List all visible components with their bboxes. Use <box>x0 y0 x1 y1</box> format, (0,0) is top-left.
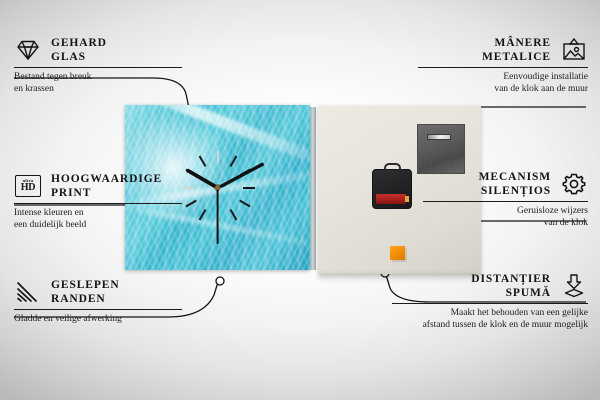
hanger-slot <box>427 134 451 140</box>
quartz-movement <box>372 169 412 209</box>
spacer-arrow-icon <box>560 272 588 300</box>
feature-header: ultra HD HOOGWAARDIGE PRINT <box>14 172 182 200</box>
feature-header: GEHARD GLAS <box>14 36 182 64</box>
foam-spacer <box>390 246 405 260</box>
feature-header: MECANISM SILENȚIOS <box>423 170 588 198</box>
feature-description: Gladde en veilige afwerking <box>14 314 182 326</box>
feature-divider <box>14 309 182 310</box>
feature-title: GEHARD GLAS <box>51 36 107 64</box>
feature-title: MÂNERE METALICE <box>482 36 551 64</box>
feature-title: DISTANȚIER SPUMĂ <box>471 272 551 300</box>
movement-hook <box>384 163 401 172</box>
feature-manere-metalice: MÂNERE METALICE Eenvoudige installatie v… <box>418 36 588 95</box>
feature-description: Geruisloze wijzers van de klok <box>423 206 588 229</box>
beveled-edge-icon <box>14 278 42 306</box>
feature-description: Bestand tegen breuk en krassen <box>14 72 182 95</box>
metal-hanger-plate <box>417 124 465 174</box>
ultra-hd-icon: ultra HD <box>14 172 42 200</box>
glass-beveled-edge <box>310 107 316 270</box>
gear-icon <box>560 170 588 198</box>
picture-frame-icon <box>560 36 588 64</box>
feature-header: DISTANȚIER SPUMĂ <box>392 272 588 300</box>
feature-distantier-spuma: DISTANȚIER SPUMĂ Maakt het behouden van … <box>392 272 588 331</box>
diamond-icon <box>14 36 42 64</box>
feature-description: Eenvoudige installatie van de klok aan d… <box>418 72 588 95</box>
feature-hoogwaardige-print: ultra HD HOOGWAARDIGE PRINT Intense kleu… <box>14 172 182 231</box>
feature-divider <box>423 201 588 202</box>
feature-gehard-glas: GEHARD GLAS Bestand tegen breuk en krass… <box>14 36 182 95</box>
clock-hand-hub <box>215 185 220 190</box>
clock-second-hand <box>217 188 219 244</box>
infographic-canvas: GEHARD GLAS Bestand tegen breuk en krass… <box>0 0 600 400</box>
feature-title: HOOGWAARDIGE PRINT <box>51 172 162 200</box>
feature-divider <box>392 303 588 304</box>
feature-title: GESLEPEN RANDEN <box>51 278 120 306</box>
feature-geslepen-randen: GESLEPEN RANDEN Gladde en veilige afwerk… <box>14 278 182 326</box>
feature-divider <box>14 203 182 204</box>
feature-divider <box>418 67 588 68</box>
feature-description: Maakt het behouden van een gelijke afsta… <box>392 308 588 331</box>
feature-header: GESLEPEN RANDEN <box>14 278 182 306</box>
feature-description: Intense kleuren en een duidelijk beeld <box>14 208 182 231</box>
feature-header: MÂNERE METALICE <box>418 36 588 64</box>
ultra-hd-icon-main-label: HD <box>21 183 36 193</box>
feature-mecanism-silentios: MECANISM SILENȚIOS Geruisloze wijzers va… <box>423 170 588 229</box>
feature-divider <box>14 67 182 68</box>
battery <box>376 194 406 204</box>
feature-title: MECANISM SILENȚIOS <box>479 170 551 198</box>
